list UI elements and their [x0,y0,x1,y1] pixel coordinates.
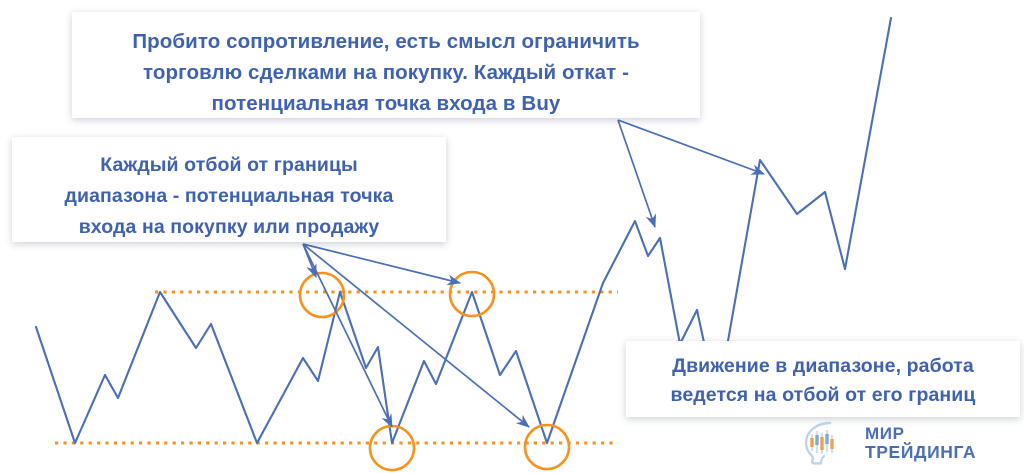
watermark-line2: ТРЕЙДИНГА [865,443,976,462]
callout-range: Движение в диапазоне, работа ведется на … [626,341,1020,417]
callout-range-line2: ведется на отбой от его границ [626,381,1020,410]
watermark-line1: МИР [865,424,976,443]
callout-range-line1: Движение в диапазоне, работа [626,352,1020,381]
arrow-to-pullback-2 [618,120,764,174]
arrow-to-support-touch-1 [303,244,392,427]
callout-bounce-line1: Каждый отбой от границы [12,150,446,181]
callout-breakout: Пробито сопротивление, есть смысл ограни… [72,12,700,118]
callout-bounce: Каждый отбой от границы диапазона - поте… [12,137,446,242]
callout-breakout-line3: потенциальная точка входа в Buy [72,88,700,119]
watermark: МИР ТРЕЙДИНГА [800,418,1018,468]
head-candlestick-icon [800,420,856,466]
arrow-to-pullback-1 [618,120,655,227]
callout-breakout-line2: торговлю сделками на покупку. Каждый отк… [72,57,700,88]
watermark-text: МИР ТРЕЙДИНГА [865,424,976,462]
callout-breakout-line1: Пробито сопротивление, есть смысл ограни… [72,26,700,57]
callout-bounce-line3: входа на покупку или продажу [12,212,446,243]
diagram-canvas: Пробито сопротивление, есть смысл ограни… [0,0,1024,473]
touch-circles-group [300,272,569,470]
touch-circle-support-touch-1 [370,426,414,470]
callout-bounce-line2: диапазона - потенциальная точка [12,181,446,212]
touch-circle-support-touch-2 [525,425,569,469]
touch-circle-resistance-touch-1 [300,273,344,317]
